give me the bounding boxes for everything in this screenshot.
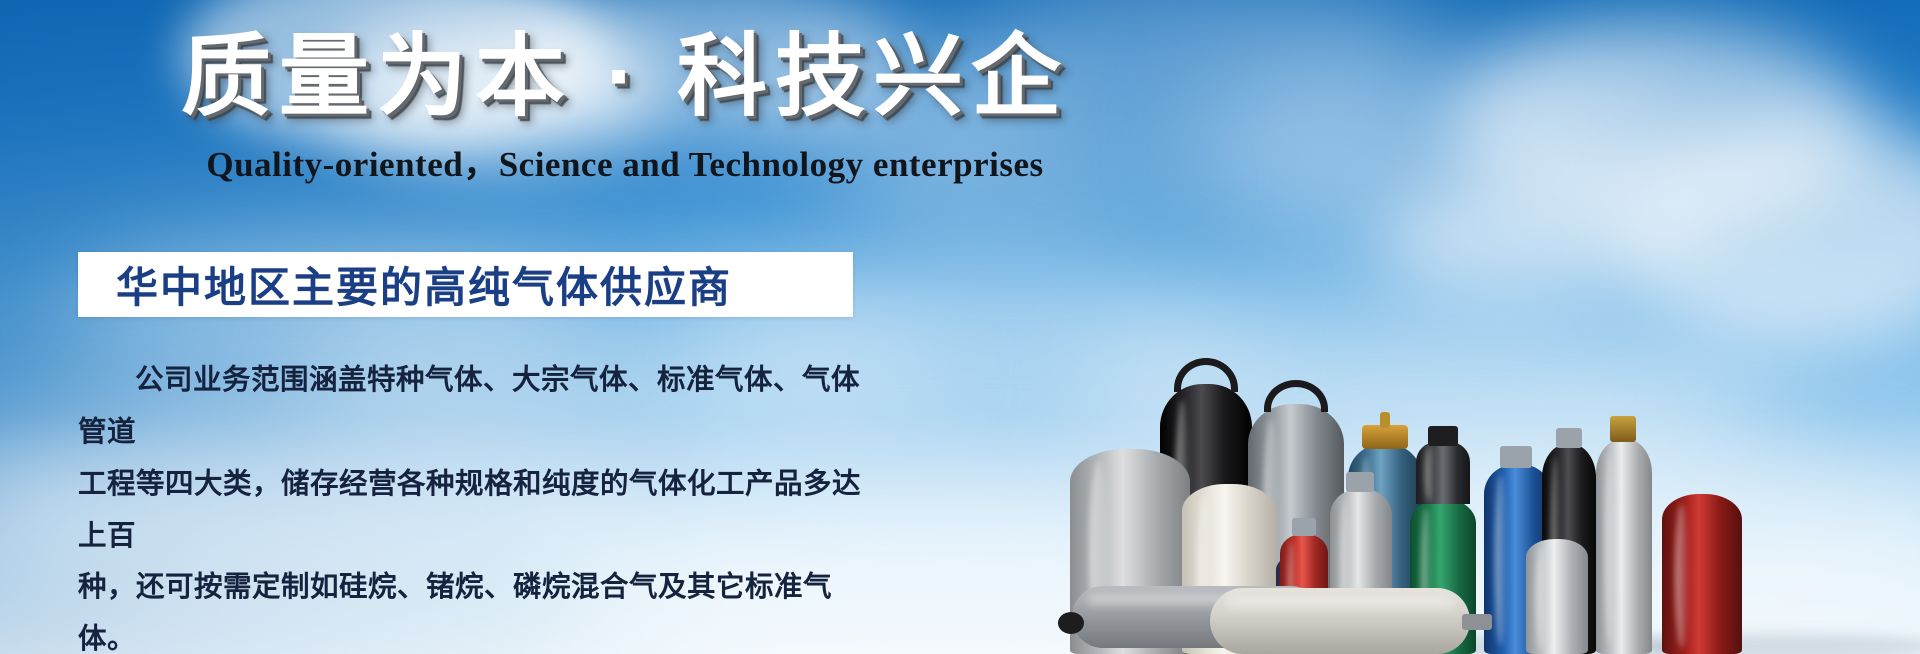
- cylinder-horizontal-gray-valve: [1058, 612, 1084, 634]
- cylinder-valve-black-slim: [1556, 428, 1582, 448]
- cylinder-valve-red: [1292, 518, 1316, 536]
- claim-text: 华中地区主要的高纯气体供应商: [116, 254, 732, 315]
- cylinder-valve-blue: [1500, 446, 1532, 468]
- description-line-3: 种，还可按需定制如硅烷、锗烷、磷烷混合气及其它标准气体。: [78, 562, 868, 654]
- cylinder-cap-guard-black: [1174, 358, 1238, 392]
- cylinder-green-neck: [1416, 442, 1470, 504]
- cylinder-valve-green: [1428, 426, 1458, 446]
- cylinder-horizontal-white: [1210, 588, 1470, 654]
- cylinder-valve-brass: [1362, 425, 1408, 449]
- headline-block: 质量为本 · 科技兴企 Quality-oriented，Science and…: [0, 24, 1250, 187]
- cylinder-dark-red: [1662, 494, 1742, 654]
- description-paragraph: 公司业务范围涵盖特种气体、大宗气体、标准气体、气体管道 工程等四大类，储存经营各…: [78, 355, 868, 654]
- description-line-1: 公司业务范围涵盖特种气体、大宗气体、标准气体、气体管道: [78, 355, 868, 459]
- cylinder-aluminium-short: [1526, 539, 1588, 654]
- promo-banner: 质量为本 · 科技兴企 Quality-oriented，Science and…: [0, 0, 1920, 654]
- cylinder-valve-aluminium: [1610, 416, 1636, 442]
- cylinder-valve-silver: [1346, 472, 1374, 492]
- subtitle-english: Quality-oriented，Science and Technology …: [0, 136, 1250, 187]
- cylinder-aluminium: [1596, 439, 1652, 654]
- description-line-2: 工程等四大类，储存经营各种规格和纯度的气体化工产品多达上百: [78, 459, 868, 563]
- cylinder-valve-stem: [1380, 412, 1390, 428]
- page-title: 质量为本 · 科技兴企: [0, 24, 1250, 130]
- cylinder-cap-guard-gray: [1264, 380, 1328, 412]
- claim-box: 华中地区主要的高纯气体供应商: [78, 252, 853, 317]
- cylinder-horizontal-white-valve: [1462, 614, 1492, 630]
- gas-cylinder-photo: [1080, 234, 1920, 654]
